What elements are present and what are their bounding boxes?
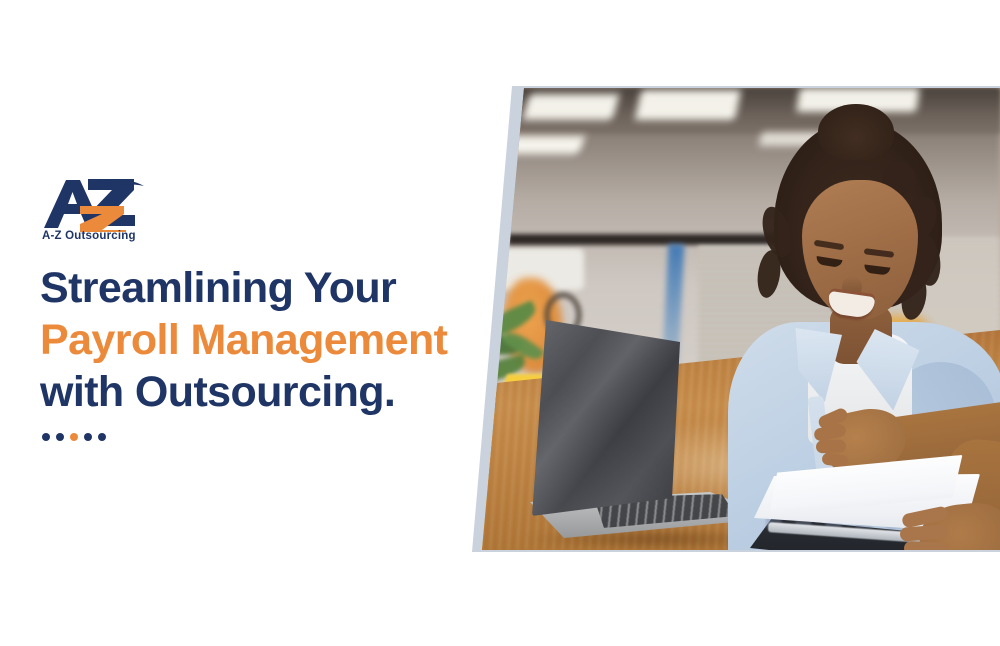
ceiling-light bbox=[522, 94, 619, 120]
divider-dot bbox=[84, 433, 92, 441]
a-z-outsourcing-logo[interactable]: A-Z Outsourcing bbox=[40, 176, 160, 252]
divider-dot bbox=[56, 433, 64, 441]
divider-dot-accent bbox=[70, 433, 78, 441]
woman-hand-overlay bbox=[706, 110, 1000, 550]
divider-dot bbox=[42, 433, 50, 441]
headline-line-1: Streamlining Your bbox=[40, 262, 510, 314]
headline: Streamlining Your Payroll Management wit… bbox=[40, 262, 510, 418]
logo-glyph-icon bbox=[40, 176, 150, 232]
logo-tagline: A-Z Outsourcing bbox=[42, 230, 136, 242]
headline-line-2: Payroll Management bbox=[40, 314, 510, 366]
marketing-banner: A-Z Outsourcing Streamlining Your Payrol… bbox=[0, 0, 1000, 646]
finger bbox=[904, 541, 949, 550]
headline-line-3: with Outsourcing. bbox=[40, 366, 510, 418]
dot-divider bbox=[42, 433, 106, 441]
logo-mark bbox=[40, 176, 150, 232]
left-text-panel: A-Z Outsourcing Streamlining Your Payrol… bbox=[0, 0, 520, 646]
woman-working-at-laptop-photo bbox=[468, 88, 1000, 550]
divider-dot bbox=[98, 433, 106, 441]
laptop-lid-highlight bbox=[532, 320, 680, 516]
